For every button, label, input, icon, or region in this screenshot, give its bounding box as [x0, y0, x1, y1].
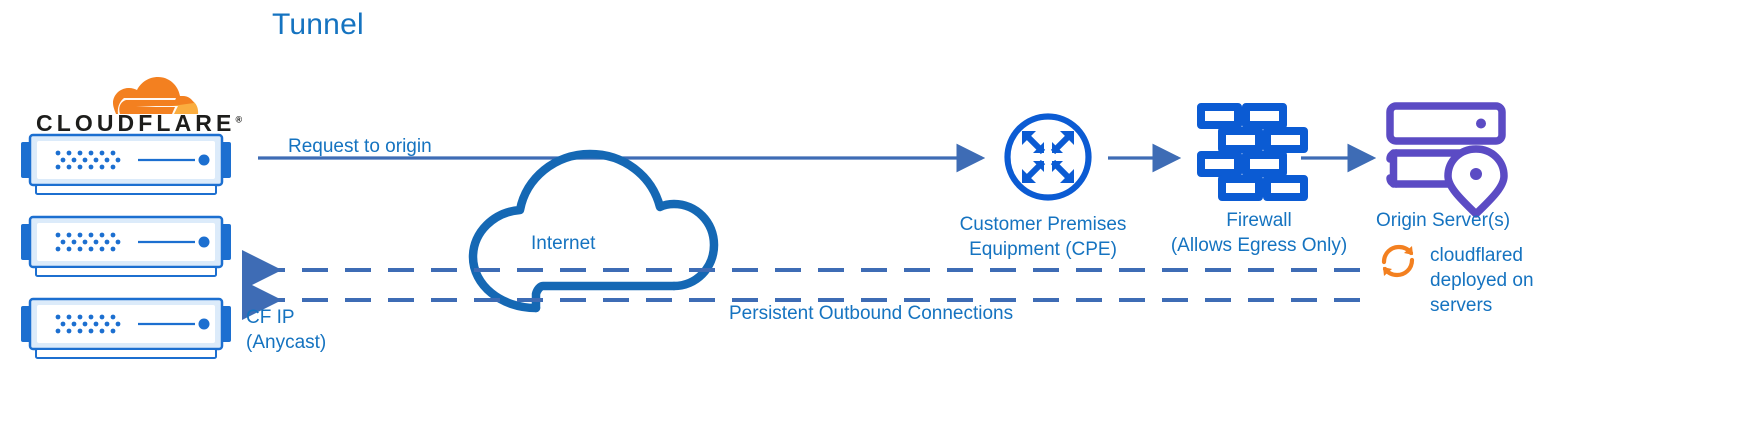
- internet-label: Internet: [531, 231, 595, 256]
- firewall-label-line2: (Allows Egress Only): [1157, 233, 1361, 258]
- cf-ip-line1: CF IP: [246, 305, 366, 330]
- cpe-label: Customer Premises Equipment (CPE): [947, 212, 1139, 262]
- cf-ip-anycast-label: CF IP (Anycast): [246, 305, 366, 355]
- firewall-label-line1: Firewall: [1157, 208, 1361, 233]
- cpe-label-line2: Equipment (CPE): [947, 237, 1139, 262]
- origin-server-label: Origin Server(s): [1376, 208, 1510, 233]
- persistent-outbound-label: Persistent Outbound Connections: [729, 301, 1013, 326]
- firewall-to-origin-arrow: [1301, 150, 1387, 166]
- firewall-label: Firewall (Allows Egress Only): [1157, 208, 1361, 258]
- edge-server-3: [18, 296, 234, 362]
- cf-ip-line2: (Anycast): [246, 330, 366, 355]
- cpe-label-line1: Customer Premises: [947, 212, 1139, 237]
- trademark-symbol: ®: [235, 114, 242, 124]
- diagram-canvas: Tunnel CLOUDFLARE®: [0, 0, 1754, 422]
- cloudflared-line2: deployed on: [1430, 268, 1540, 293]
- cloudflared-line1: cloudflared: [1430, 243, 1540, 268]
- firewall-icon: [1196, 102, 1292, 202]
- cpe-icon: [1002, 111, 1094, 203]
- origin-server-icon: [1386, 102, 1516, 196]
- cpe-to-firewall-arrow: [1108, 150, 1194, 166]
- cloudflared-annotation: cloudflared deployed on servers: [1430, 243, 1540, 318]
- cloudflared-line3: servers: [1430, 293, 1540, 318]
- diagram-title: Tunnel: [272, 8, 364, 42]
- sync-arrows-icon: [1377, 240, 1419, 282]
- request-flow-label: Request to origin: [288, 134, 432, 159]
- edge-server-1: [18, 132, 234, 198]
- edge-server-2: [18, 214, 234, 280]
